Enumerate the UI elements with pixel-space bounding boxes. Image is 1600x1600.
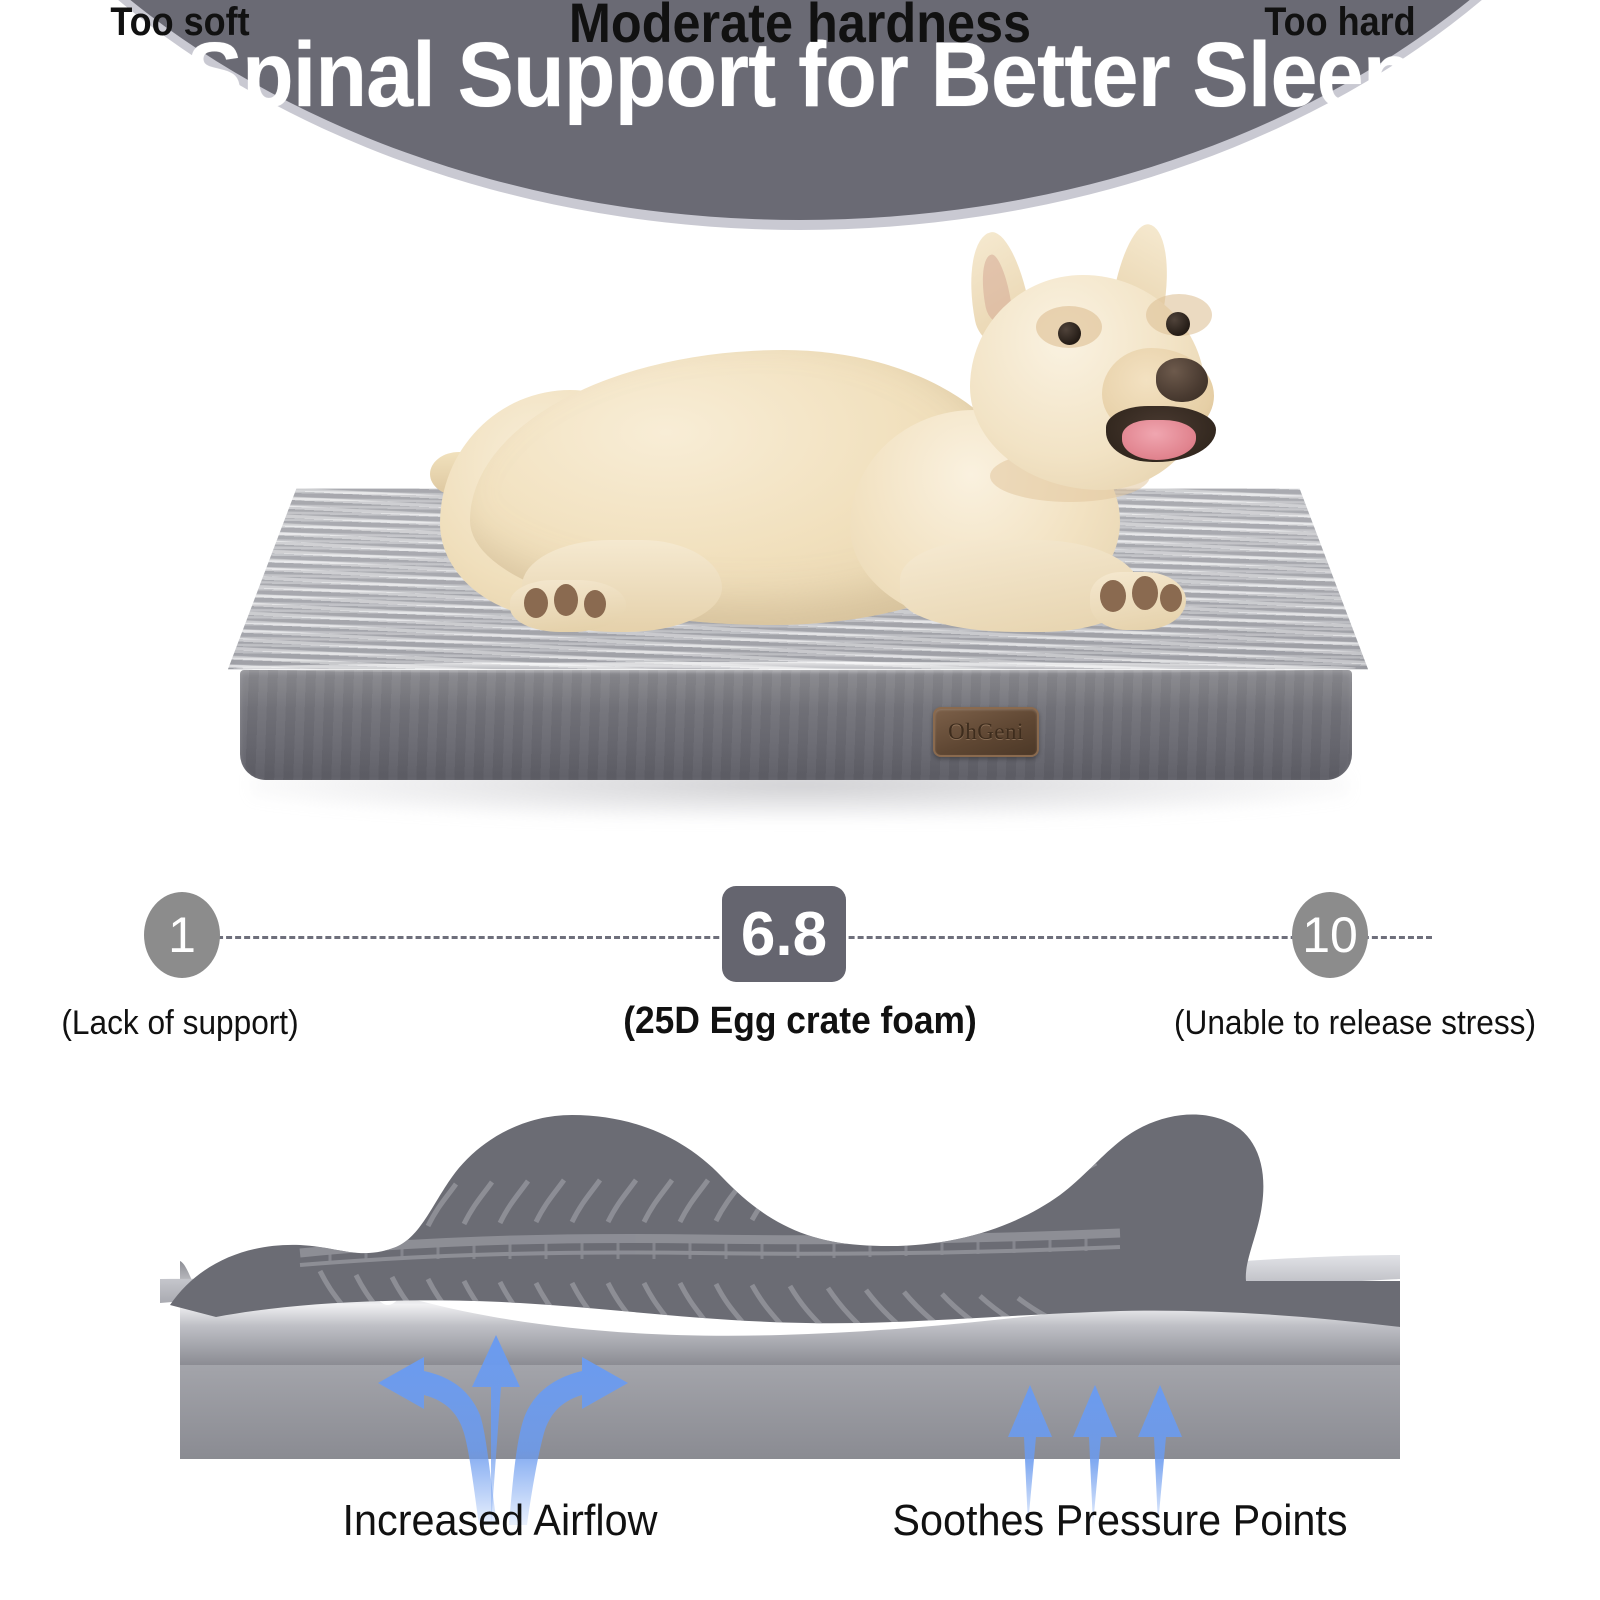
scale-sub-hard: (Unable to release stress) <box>1127 1004 1583 1043</box>
brand-label: OhGeni <box>948 719 1024 745</box>
diagram-captions: Increased Airflow Soothes Pressure Point… <box>0 1496 1600 1566</box>
scale-sub-soft: (Lack of support) <box>13 1004 348 1043</box>
dog-eye-right <box>1166 312 1190 336</box>
paw-toe <box>584 590 606 618</box>
product-photo: OhGeni <box>0 150 1600 840</box>
caption-pressure-points: Soothes Pressure Points <box>810 1496 1430 1546</box>
bed-edge-highlight <box>236 662 1356 674</box>
brand-patch: OhGeni <box>933 707 1039 757</box>
caption-increased-airflow: Increased Airflow <box>199 1496 801 1546</box>
product-infographic: Spinal Support for Better Sleep OhGeni <box>0 0 1600 1600</box>
paw-toe <box>1100 580 1126 612</box>
scale-label-soft: Too soft <box>18 0 342 45</box>
scale-sub-moderate: (25D Egg crate foam) <box>465 1000 1135 1043</box>
paw-toe <box>1160 584 1182 612</box>
dog-photo <box>430 240 1190 660</box>
scale-node-10: 10 <box>1292 892 1368 978</box>
scale-label-hard: Too hard <box>1178 0 1502 45</box>
dog-eye-left <box>1058 322 1081 345</box>
dog-nose <box>1156 358 1208 402</box>
cross-section-svg <box>0 1065 1600 1525</box>
scale-node-1: 1 <box>144 892 220 978</box>
dog-front-paw <box>1090 572 1186 630</box>
scale-label-moderate: Moderate hardness <box>476 0 1124 55</box>
paw-toe <box>524 588 548 618</box>
dog-back-paw <box>510 580 626 632</box>
scale-badge-6-8: 6.8 <box>722 886 846 982</box>
bed-side-panel <box>240 670 1352 780</box>
paw-toe <box>1132 576 1158 610</box>
cross-section-diagram <box>0 1065 1600 1525</box>
paw-toe <box>554 584 578 616</box>
